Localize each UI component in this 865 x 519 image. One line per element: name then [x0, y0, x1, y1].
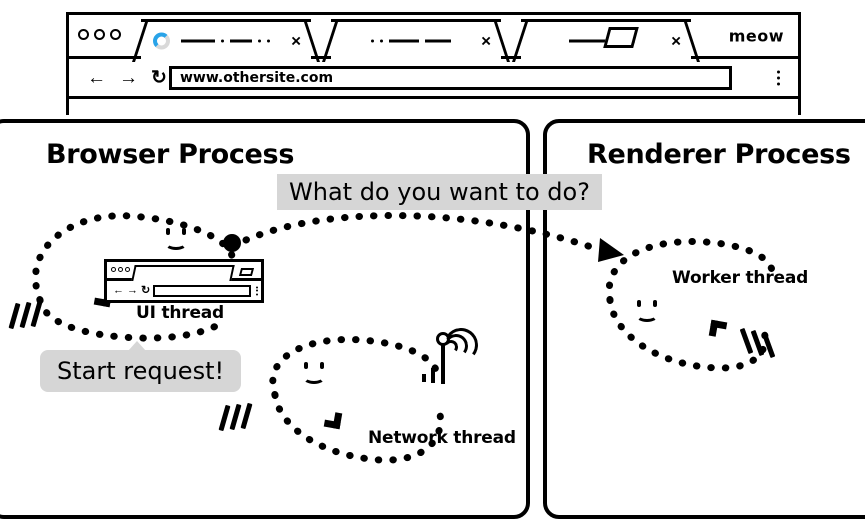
toolbar: ← → ↻ www.othersite.com — [69, 59, 798, 99]
diagram-canvas: × × × — [0, 0, 865, 504]
tab-2-close-icon[interactable]: × — [481, 32, 491, 49]
tab-strip: × × × — [69, 15, 798, 59]
kebab-menu-icon[interactable] — [777, 70, 780, 85]
mini-new-tab-icon — [239, 268, 254, 276]
tab-slant-left — [121, 19, 149, 62]
mini-forward-icon: → — [127, 285, 138, 296]
new-tab-button[interactable] — [603, 27, 639, 48]
maximize-dot-icon[interactable] — [110, 29, 121, 40]
tab-1-close-icon[interactable]: × — [291, 32, 301, 49]
renderer-process-title: Renderer Process — [587, 139, 851, 170]
tab-3-close-icon[interactable]: × — [671, 32, 681, 49]
network-thread-label: Network thread — [368, 428, 516, 448]
browser-process-title: Browser Process — [46, 139, 294, 170]
mini-address-bar — [153, 285, 251, 297]
close-dot-icon[interactable] — [78, 29, 89, 40]
browser-tab-2[interactable]: × — [331, 19, 501, 59]
browser-window: × × × — [66, 12, 801, 115]
start-request-callout: Start request! — [40, 350, 241, 392]
minimize-dot-icon[interactable] — [94, 29, 105, 40]
mini-browser-toolbar: ← → ↻ — [107, 281, 261, 300]
address-bar-value: www.othersite.com — [180, 70, 333, 86]
start-request-callout-text: Start request! — [57, 357, 224, 385]
mini-reload-icon: ↻ — [141, 285, 150, 296]
network-thread-direction-chevron — [324, 411, 343, 430]
mini-window-controls-icon — [111, 267, 130, 272]
mini-browser-icon: ← → ↻ — [104, 259, 264, 303]
mini-kebab-menu-icon — [256, 286, 258, 295]
callout-tail — [128, 341, 146, 351]
mini-browser-tabstrip — [107, 262, 261, 281]
tab-loading-spinner-icon — [153, 32, 170, 49]
address-bar[interactable]: www.othersite.com — [169, 66, 732, 90]
question-callout: What do you want to do? — [277, 174, 602, 210]
window-controls[interactable] — [78, 29, 121, 40]
tab-slant-right — [683, 19, 711, 62]
question-callout-text: What do you want to do? — [289, 178, 590, 206]
profile-label[interactable]: meow — [729, 26, 784, 45]
reload-icon[interactable]: ↻ — [151, 68, 167, 87]
forward-icon[interactable]: → — [119, 68, 138, 87]
ui-thread-label: UI thread — [136, 303, 224, 323]
tab-1-title-scribble — [181, 39, 270, 42]
browser-tab-1[interactable]: × — [141, 19, 311, 59]
tab-2-title-scribble — [371, 39, 451, 42]
mini-browser-tab — [131, 265, 234, 281]
back-icon[interactable]: ← — [87, 68, 106, 87]
worker-thread-direction-chevron — [709, 320, 728, 339]
antenna-icon — [418, 330, 478, 396]
mini-back-icon: ← — [113, 285, 124, 296]
worker-thread-label: Worker thread — [672, 268, 808, 288]
